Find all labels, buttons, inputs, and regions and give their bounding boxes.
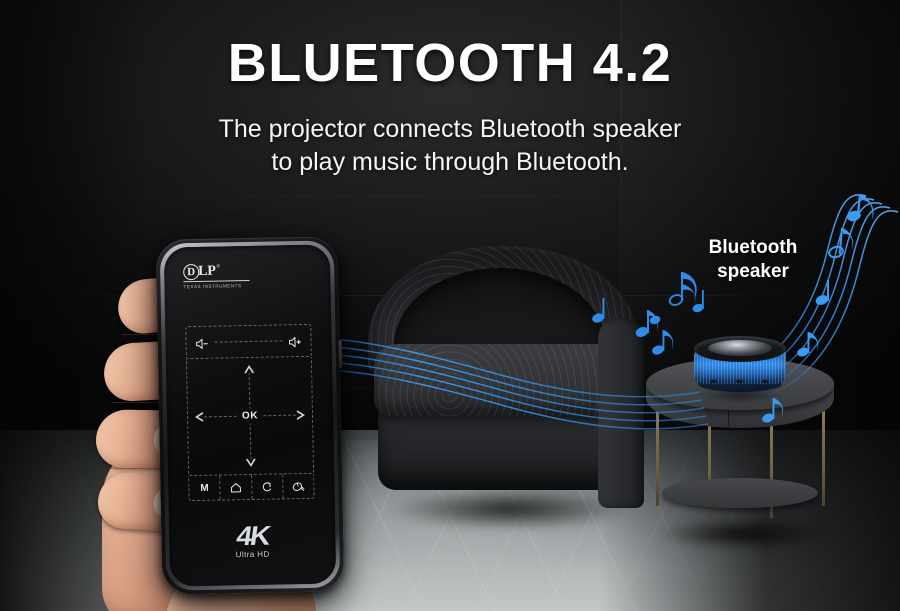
remote-control-cluster[interactable]: OK M <box>185 324 314 501</box>
dlp-projector-remote[interactable]: D LP ® TEXAS INSTRUMENTS <box>156 236 345 594</box>
mouse-mode-button[interactable] <box>283 474 314 499</box>
menu-button[interactable]: M <box>189 476 221 501</box>
armchair-armrest-right <box>598 318 644 508</box>
function-button-row[interactable]: M <box>188 474 314 501</box>
arrow-right-icon-inner <box>297 412 302 418</box>
4k-logo-text: 4K <box>235 524 270 550</box>
speaker-callout-line-1: Bluetooth <box>690 236 816 260</box>
speaker-callout-line-2: speaker <box>690 260 816 284</box>
speaker-top <box>694 336 786 362</box>
power-button[interactable] <box>339 340 343 368</box>
table-leg <box>656 402 659 506</box>
resolution-logo: 4K Ultra HD <box>169 523 336 561</box>
home-icon <box>230 482 241 493</box>
speaker-callout-label: Bluetooth speaker <box>690 236 816 284</box>
speaker-top-inset <box>708 340 772 356</box>
fabric-texture <box>374 344 626 416</box>
arrow-left-icon-inner <box>198 414 203 420</box>
registered-trademark-icon: ® <box>216 264 220 271</box>
page-subtitle: The projector connects Bluetooth speaker… <box>0 113 900 179</box>
volume-row[interactable] <box>185 324 312 359</box>
arrow-up-icon-inner <box>246 368 252 373</box>
home-button[interactable] <box>220 475 252 500</box>
dlp-logo: D LP ® TEXAS INSTRUMENTS <box>183 263 255 289</box>
arrow-down-icon-inner <box>248 459 254 464</box>
table-lower-shelf <box>662 478 818 508</box>
dlp-logo-lp: LP <box>198 264 216 280</box>
mouse-icon <box>292 480 305 491</box>
back-arrow-icon <box>261 481 272 492</box>
bluetooth-speaker <box>694 336 786 394</box>
promo-scene: D LP ® TEXAS INSTRUMENTS <box>0 0 900 611</box>
speaker-button <box>762 379 769 383</box>
volume-up-icon[interactable] <box>288 334 301 346</box>
subtitle-line-2: to play music through Bluetooth. <box>0 146 900 179</box>
page-title: BLUETOOTH 4.2 <box>0 36 900 90</box>
volume-track[interactable] <box>215 340 283 342</box>
directional-pad[interactable]: OK <box>186 357 314 476</box>
device-touch-panel[interactable]: D LP ® TEXAS INSTRUMENTS <box>164 244 336 586</box>
ok-button[interactable]: OK <box>237 408 263 424</box>
volume-down-icon[interactable] <box>195 336 208 348</box>
armchair-seat <box>374 344 626 416</box>
table-leg <box>822 402 825 506</box>
back-button[interactable] <box>252 474 284 499</box>
subtitle-line-1: The projector connects Bluetooth speaker <box>0 113 900 146</box>
dlp-logo-d: D <box>183 264 199 280</box>
dlp-sub-brand: TEXAS INSTRUMENTS <box>183 282 255 288</box>
armchair-base <box>378 404 622 490</box>
speaker-button <box>736 379 743 383</box>
speaker-button <box>710 379 717 383</box>
armchair <box>360 246 660 526</box>
